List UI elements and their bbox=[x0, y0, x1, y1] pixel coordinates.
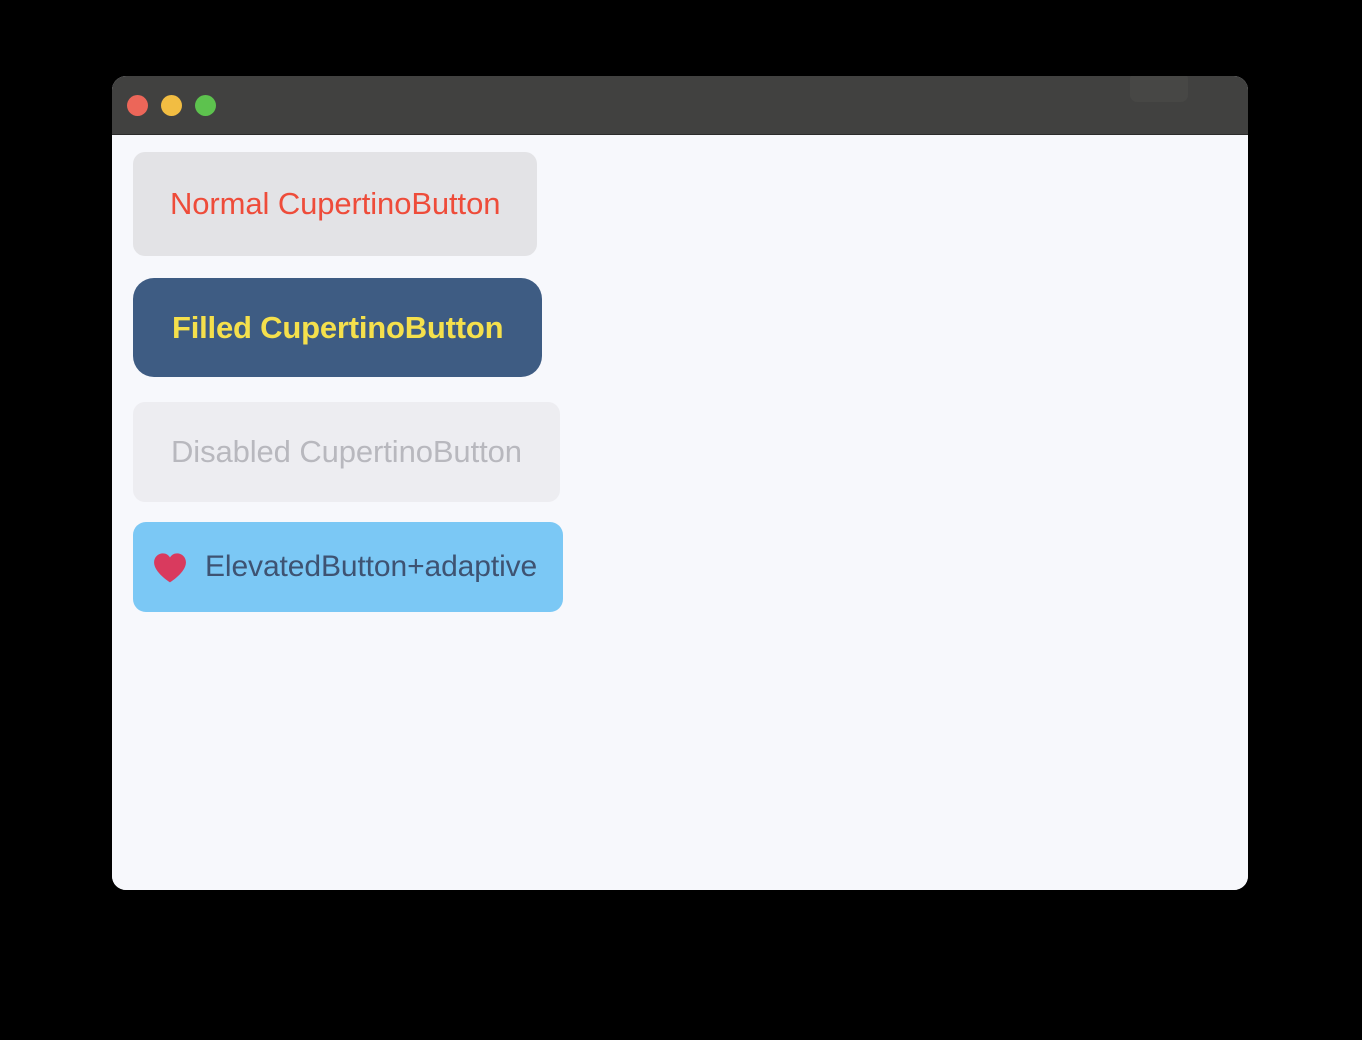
elevated-button-adaptive[interactable]: ElevatedButton+adaptive bbox=[133, 522, 563, 612]
button-stack: Normal CupertinoButton Filled CupertinoB… bbox=[133, 152, 1248, 612]
app-window: Normal CupertinoButton Filled CupertinoB… bbox=[112, 76, 1248, 890]
disabled-cupertino-button: Disabled CupertinoButton bbox=[133, 402, 560, 502]
heart-icon bbox=[153, 552, 187, 583]
filled-cupertino-button-label: Filled CupertinoButton bbox=[172, 310, 503, 346]
minimize-window-icon[interactable] bbox=[161, 95, 182, 116]
disabled-cupertino-button-label: Disabled CupertinoButton bbox=[171, 434, 522, 470]
filled-cupertino-button[interactable]: Filled CupertinoButton bbox=[133, 278, 542, 377]
maximize-window-icon[interactable] bbox=[195, 95, 216, 116]
window-content-area: Normal CupertinoButton Filled CupertinoB… bbox=[112, 135, 1248, 890]
elevated-button-adaptive-label: ElevatedButton+adaptive bbox=[205, 550, 537, 584]
close-window-icon[interactable] bbox=[127, 95, 148, 116]
screen-root: Normal CupertinoButton Filled CupertinoB… bbox=[0, 0, 1362, 1040]
normal-cupertino-button-label: Normal CupertinoButton bbox=[170, 186, 500, 222]
titlebar-control-region bbox=[1130, 76, 1188, 102]
window-traffic-lights bbox=[127, 95, 216, 116]
window-titlebar[interactable] bbox=[112, 76, 1248, 135]
normal-cupertino-button[interactable]: Normal CupertinoButton bbox=[133, 152, 537, 256]
